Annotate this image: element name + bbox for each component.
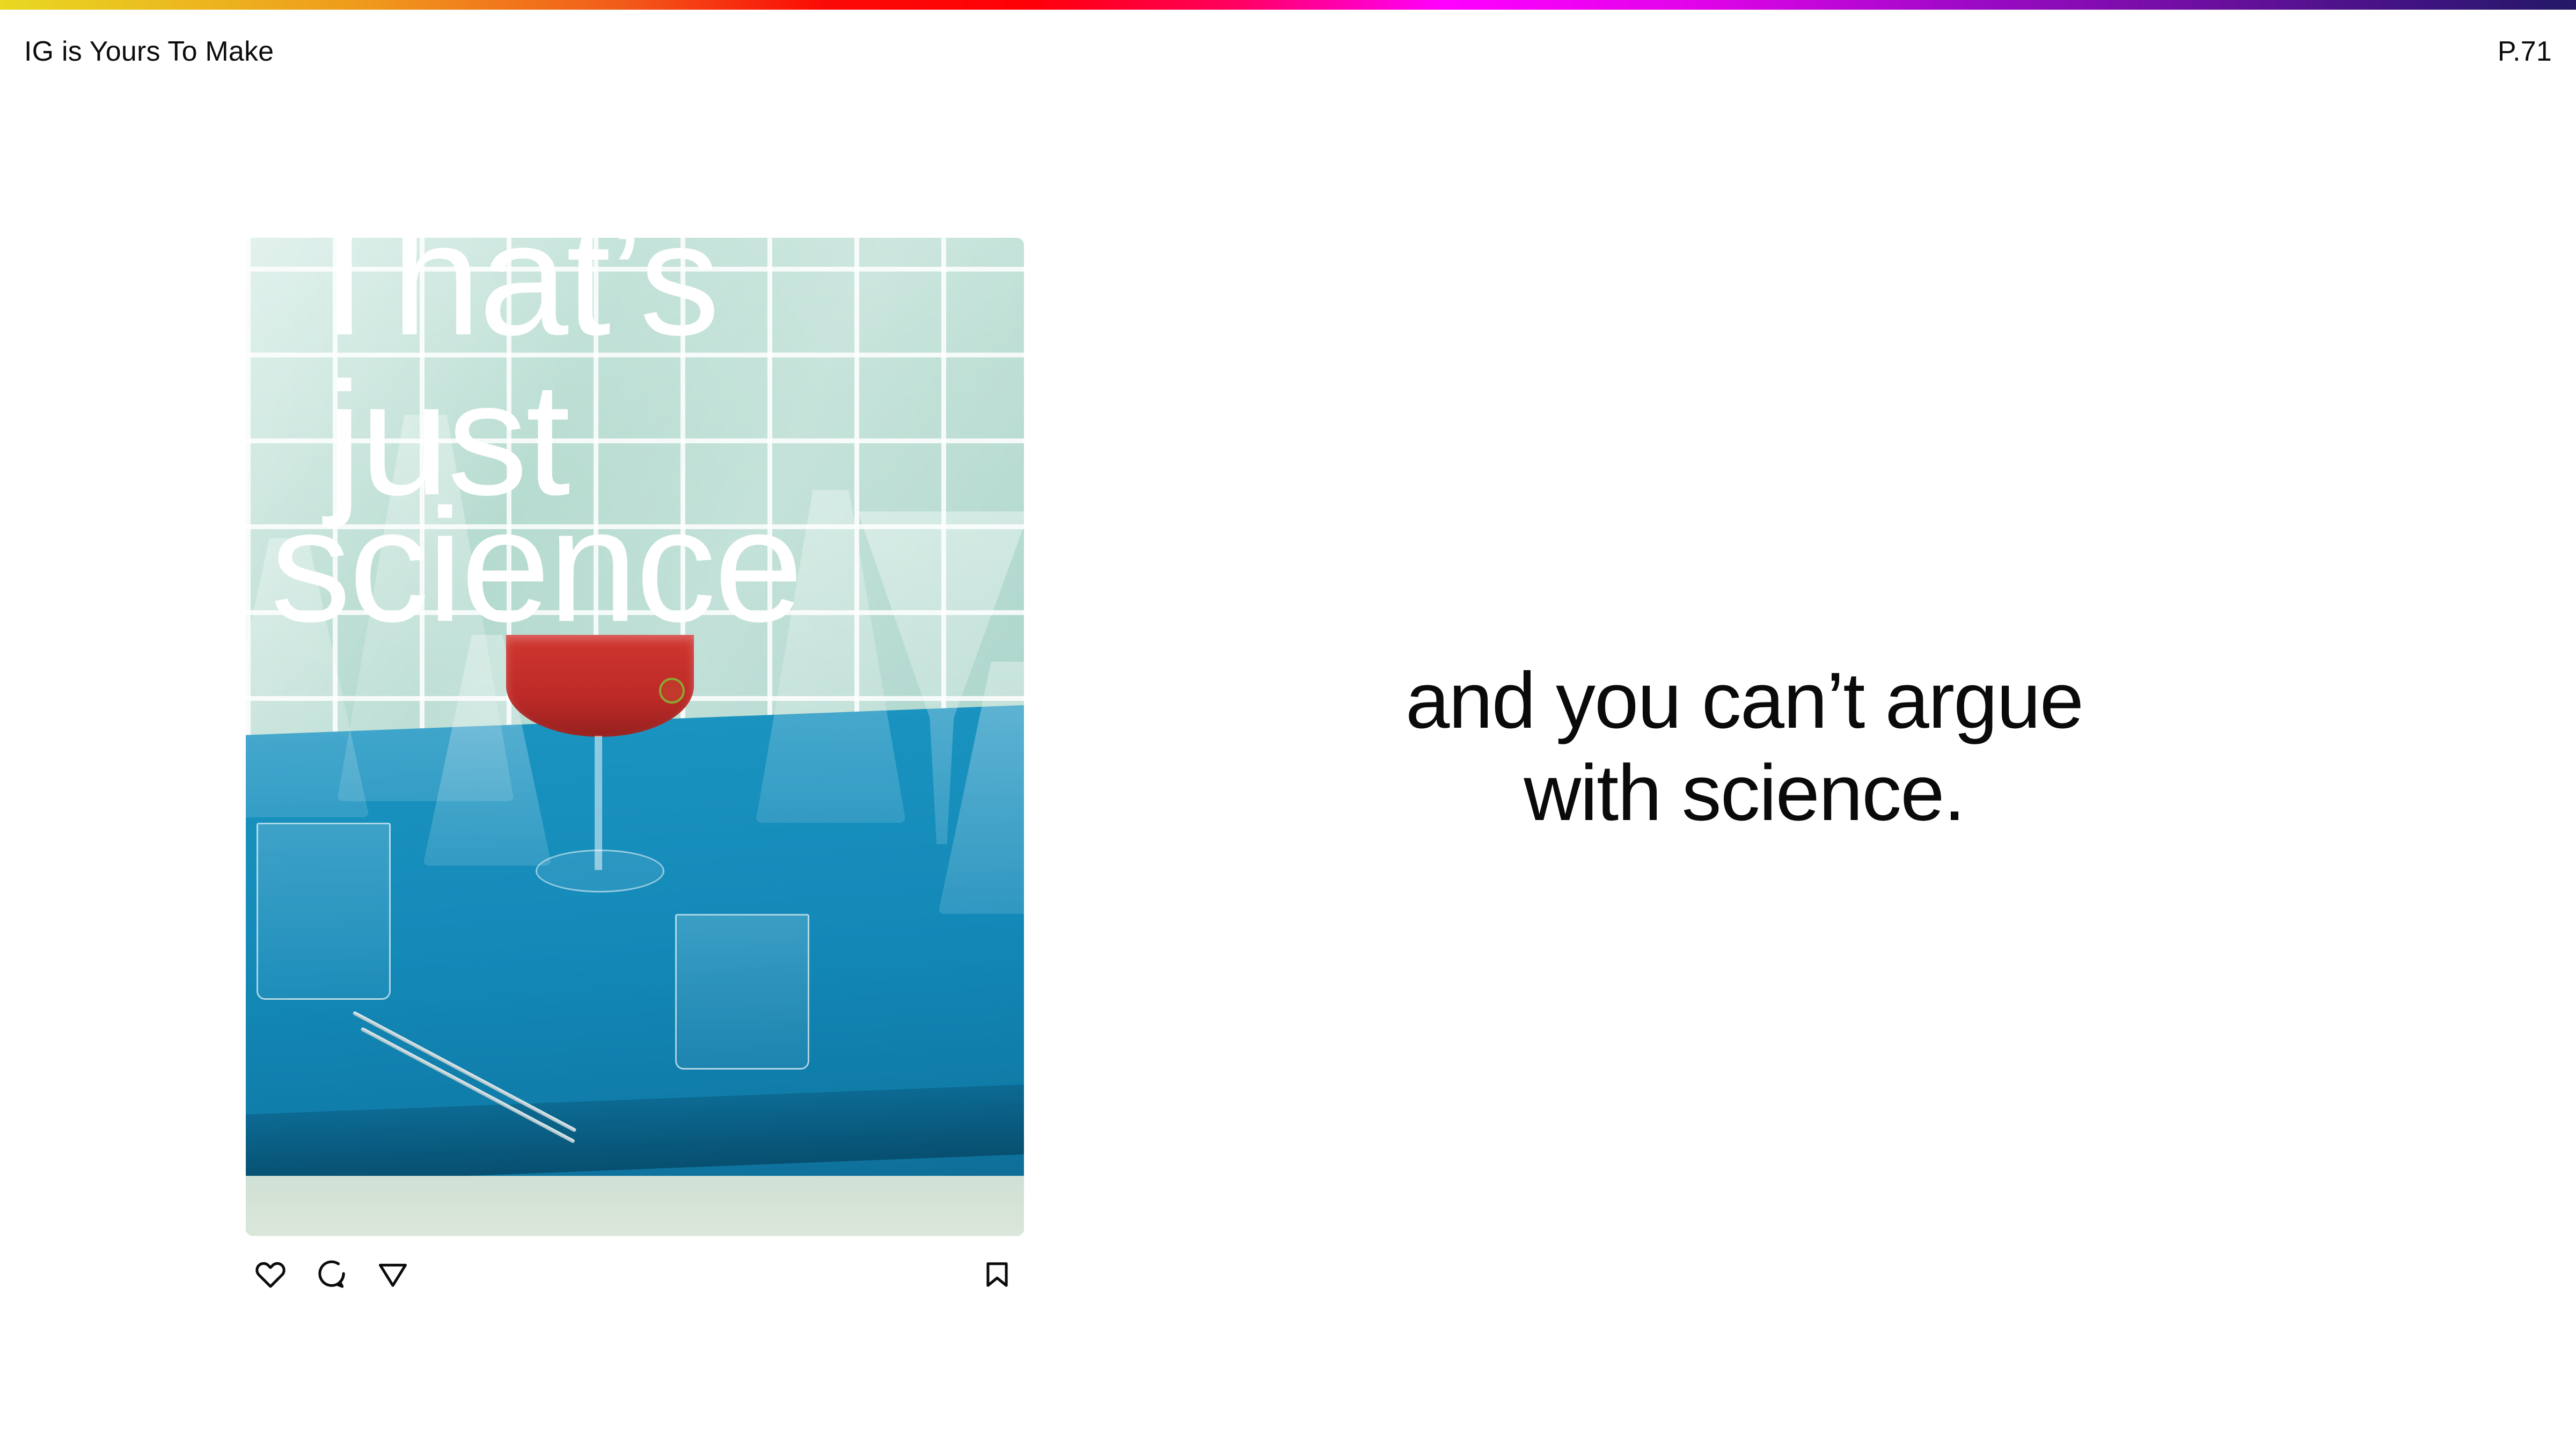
slide-header: IG is Yours To Make P.71 [0,10,2576,79]
overlay-line-3: science [270,491,801,639]
overlay-line-1: That’s [295,238,718,353]
post-overlay-headline: That’s just science [246,238,1024,1236]
deck-title: IG is Yours To Make [24,35,274,68]
page-number: P.71 [2498,35,2552,68]
post-action-group-right [980,1257,1014,1292]
instagram-post-card[interactable]: That’s just science [246,238,1024,1334]
share-icon[interactable] [376,1257,410,1292]
pull-quote-line-2: with science. [1331,747,2157,839]
like-icon[interactable] [253,1257,288,1292]
brand-gradient-bar [0,0,2576,10]
pull-quote: and you can’t argue with science. [1331,655,2157,839]
bookmark-icon[interactable] [980,1257,1014,1292]
post-action-group-left [253,1257,410,1292]
post-image[interactable]: That’s just science [246,238,1024,1236]
pull-quote-line-1: and you can’t argue [1331,655,2157,747]
post-action-bar [246,1257,1024,1316]
comment-icon[interactable] [314,1257,349,1292]
